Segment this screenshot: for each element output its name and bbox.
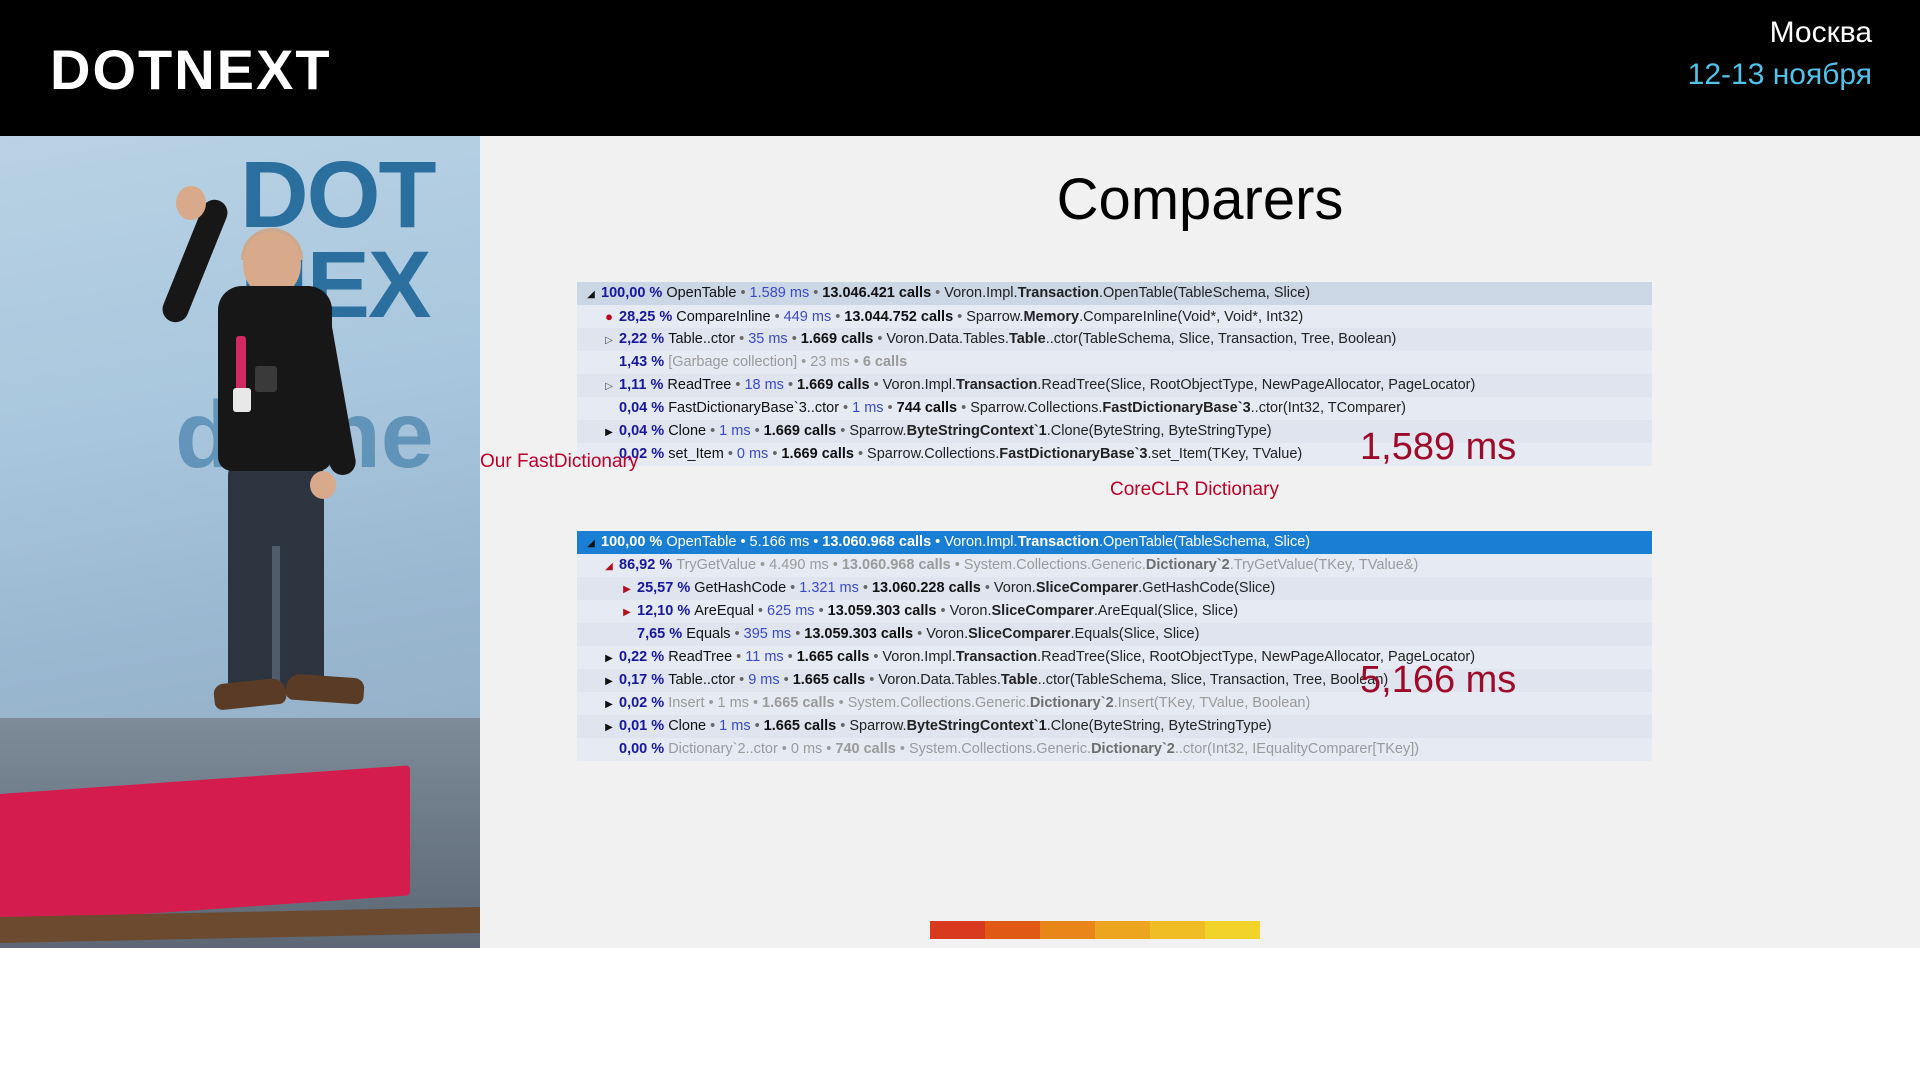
collapse-triangle-icon[interactable]: ◢ xyxy=(585,532,597,555)
row-separator: • xyxy=(706,718,719,734)
row-method-name: Table..ctor xyxy=(668,672,735,688)
row-separator: • xyxy=(731,626,744,642)
row-separator: • xyxy=(788,331,801,347)
row-percent: 7,65 % xyxy=(633,626,686,642)
annotation-our-fastdictionary: Our FastDictionary xyxy=(480,451,638,473)
row-separator: • xyxy=(749,695,762,711)
row-call-count: 744 calls xyxy=(897,400,957,416)
speaker-lanyard xyxy=(236,336,246,390)
row-call-count: 740 calls xyxy=(835,741,895,757)
row-separator: • xyxy=(706,423,719,439)
row-duration: 18 ms xyxy=(744,377,784,393)
row-signature: Voron.Impl.Transaction.OpenTable(TableSc… xyxy=(944,534,1310,550)
row-duration: 23 ms xyxy=(810,354,850,370)
row-separator: • xyxy=(869,649,882,665)
row-separator: • xyxy=(822,741,835,757)
row-call-count: 1.669 calls xyxy=(764,423,837,439)
row-separator: • xyxy=(735,331,748,347)
row-separator: • xyxy=(815,603,828,619)
row-signature: Voron.Data.Tables.Table..ctor(TableSchem… xyxy=(886,331,1396,347)
row-method-name: GetHashCode xyxy=(694,580,786,596)
row-duration: 9 ms xyxy=(748,672,779,688)
row-separator: • xyxy=(981,580,994,596)
row-percent: 0,17 % xyxy=(615,672,668,688)
profiler-row[interactable]: ▶ 12,10 % AreEqual•625 ms•13.059.303 cal… xyxy=(577,600,1652,623)
row-signature: Voron.SliceComparer.GetHashCode(Slice) xyxy=(994,580,1275,596)
strip-segment xyxy=(1150,921,1205,939)
row-separator: • xyxy=(735,672,748,688)
row-separator: • xyxy=(736,285,749,301)
annotation-coreclr-dictionary: CoreCLR Dictionary xyxy=(1110,479,1279,501)
row-separator: • xyxy=(873,331,886,347)
row-separator: • xyxy=(809,534,822,550)
row-method-name: set_Item xyxy=(668,446,724,462)
row-separator: • xyxy=(859,580,872,596)
row-call-count: 13.060.968 calls xyxy=(822,534,931,550)
expand-triangle-icon[interactable]: ▶ xyxy=(621,578,633,601)
row-duration: 1 ms xyxy=(718,695,749,711)
strip-segment xyxy=(985,921,1040,939)
row-signature: System.Collections.Generic.Dictionary`2.… xyxy=(964,557,1419,573)
strip-segment xyxy=(1095,921,1150,939)
row-method-name: Table..ctor xyxy=(668,331,735,347)
row-separator: • xyxy=(809,285,822,301)
expand-triangle-icon[interactable]: ▶ xyxy=(603,693,615,716)
row-percent: 0,02 % xyxy=(615,695,668,711)
expand-triangle-icon[interactable]: ▶ xyxy=(603,716,615,739)
speaker-lowered-hand xyxy=(310,471,336,499)
row-call-count: 1.665 calls xyxy=(762,695,835,711)
dotnext-logo: DOTNEXT xyxy=(50,37,332,102)
strip-segment xyxy=(1205,921,1260,939)
row-separator: • xyxy=(957,400,970,416)
row-separator: • xyxy=(951,557,964,573)
profiler-row[interactable]: 0,04 % FastDictionaryBase`3..ctor•1 ms•7… xyxy=(577,397,1652,420)
row-duration: 0 ms xyxy=(737,446,768,462)
event-dates: 12-13 ноября xyxy=(1472,58,1872,92)
row-call-count: 1.665 calls xyxy=(764,718,837,734)
row-separator: • xyxy=(797,354,810,370)
row-separator: • xyxy=(836,718,849,734)
event-city: Москва xyxy=(1472,16,1872,50)
row-separator: • xyxy=(784,377,797,393)
row-duration: 1.589 ms xyxy=(750,285,810,301)
profiler-row[interactable]: 0,00 % Dictionary`2..ctor•0 ms•740 calls… xyxy=(577,738,1652,761)
row-method-name: Equals xyxy=(686,626,730,642)
expand-triangle-icon[interactable]: ▷ xyxy=(603,375,615,398)
row-percent: 2,22 % xyxy=(615,331,668,347)
row-separator: • xyxy=(768,446,781,462)
row-separator: • xyxy=(751,423,764,439)
strip-segment xyxy=(930,921,985,939)
row-separator: • xyxy=(937,603,950,619)
row-signature: Voron.SliceComparer.AreEqual(Slice, Slic… xyxy=(950,603,1239,619)
row-duration: 11 ms xyxy=(745,649,783,665)
row-separator: • xyxy=(835,695,848,711)
row-call-count: 13.044.752 calls xyxy=(844,309,953,325)
row-method-name: ReadTree xyxy=(667,377,731,393)
row-call-count: 13.060.968 calls xyxy=(842,557,951,573)
event-header-bar: DOTNEXT Москва 12-13 ноября xyxy=(0,0,1920,136)
row-separator: • xyxy=(931,285,944,301)
collapse-triangle-icon[interactable]: ◢ xyxy=(585,283,597,306)
row-separator: • xyxy=(771,309,784,325)
row-duration: 0 ms xyxy=(791,741,822,757)
row-duration: 1 ms xyxy=(719,423,750,439)
row-percent: 1,43 % xyxy=(615,354,668,370)
row-separator: • xyxy=(884,400,897,416)
profiler-row[interactable]: ▷ 1,11 % ReadTree•18 ms•1.669 calls•Voro… xyxy=(577,374,1652,397)
expand-triangle-icon[interactable]: ▶ xyxy=(603,421,615,444)
row-signature: Sparrow.Collections.FastDictionaryBase`3… xyxy=(867,446,1302,462)
row-percent: 0,22 % xyxy=(615,649,668,665)
expand-triangle-icon[interactable]: ▶ xyxy=(603,647,615,670)
row-separator: • xyxy=(836,423,849,439)
expand-triangle-icon[interactable]: ▶ xyxy=(621,601,633,624)
row-signature: System.Collections.Generic.Dictionary`2.… xyxy=(848,695,1311,711)
row-separator: • xyxy=(784,649,797,665)
row-signature: Voron.Impl.Transaction.ReadTree(Slice, R… xyxy=(883,377,1476,393)
profiler-row[interactable]: ◢ 100,00 % OpenTable•5.166 ms•13.060.968… xyxy=(577,531,1652,554)
row-duration: 1 ms xyxy=(852,400,883,416)
speaker-badge xyxy=(233,388,251,412)
expand-triangle-icon[interactable]: ▷ xyxy=(603,329,615,352)
row-duration: 35 ms xyxy=(748,331,788,347)
row-method-name: Clone xyxy=(668,423,706,439)
row-signature: Sparrow.Collections.FastDictionaryBase`3… xyxy=(970,400,1406,416)
row-method-name: TryGetValue xyxy=(676,557,756,573)
row-separator: • xyxy=(931,534,944,550)
row-duration: 5.166 ms xyxy=(750,534,810,550)
row-signature: System.Collections.Generic.Dictionary`2.… xyxy=(909,741,1419,757)
slide-footer-color-strip xyxy=(930,921,1260,939)
profiler-row[interactable]: ◢ 86,92 % TryGetValue•4.490 ms•13.060.96… xyxy=(577,554,1652,577)
profiler-row[interactable]: ▶ 25,57 % GetHashCode•1.321 ms•13.060.22… xyxy=(577,577,1652,600)
row-duration: 1.321 ms xyxy=(799,580,859,596)
row-percent: 0,00 % xyxy=(615,741,668,757)
row-separator: • xyxy=(756,557,769,573)
row-call-count: 13.046.421 calls xyxy=(822,285,931,301)
profiler-tree-coreclr-dictionary[interactable]: ◢ 100,00 % OpenTable•5.166 ms•13.060.968… xyxy=(577,531,1652,761)
profiler-row[interactable]: ▶ 0,01 % Clone•1 ms•1.665 calls•Sparrow.… xyxy=(577,715,1652,738)
row-method-name: Insert xyxy=(668,695,704,711)
row-separator: • xyxy=(831,309,844,325)
speaker-video-pane: DOT NEX dotne xyxy=(0,136,480,948)
row-method-name: OpenTable xyxy=(666,534,736,550)
row-separator: • xyxy=(896,741,909,757)
row-separator: • xyxy=(780,672,793,688)
row-method-name: Clone xyxy=(668,718,706,734)
row-separator: • xyxy=(778,741,791,757)
row-call-count: 1.669 calls xyxy=(801,331,874,347)
row-separator: • xyxy=(839,400,852,416)
row-percent: 28,25 % xyxy=(615,309,676,325)
row-method-name: ReadTree xyxy=(668,649,732,665)
profiler-row[interactable]: ● 28,25 % CompareInline•449 ms•13.044.75… xyxy=(577,305,1652,328)
row-separator: • xyxy=(786,580,799,596)
row-percent: 0,04 % xyxy=(615,423,668,439)
row-signature: Voron.Impl.Transaction.OpenTable(TableSc… xyxy=(944,285,1310,301)
speaker-leg-gap xyxy=(272,546,280,691)
row-duration: 1 ms xyxy=(719,718,750,734)
row-separator: • xyxy=(870,377,883,393)
row-separator: • xyxy=(850,354,863,370)
row-separator: • xyxy=(724,446,737,462)
row-method-name: CompareInline xyxy=(676,309,770,325)
row-separator: • xyxy=(732,649,745,665)
row-method-name: OpenTable xyxy=(666,285,736,301)
row-call-count: 13.059.303 calls xyxy=(828,603,937,619)
row-method-name: [Garbage collection] xyxy=(668,354,797,370)
row-signature: Sparrow.ByteStringContext`1.Clone(ByteSt… xyxy=(849,423,1271,439)
speaker-shirt-emblem xyxy=(255,366,277,392)
profiler-row[interactable]: ▷ 2,22 % Table..ctor•35 ms•1.669 calls•V… xyxy=(577,328,1652,351)
row-duration: 395 ms xyxy=(744,626,792,642)
expand-triangle-icon[interactable]: ▶ xyxy=(603,670,615,693)
row-duration: 4.490 ms xyxy=(769,557,829,573)
profiler-row[interactable]: 1,43 % [Garbage collection]•23 ms•6 call… xyxy=(577,351,1652,374)
strip-segment xyxy=(1040,921,1095,939)
row-call-count: 6 calls xyxy=(863,354,907,370)
speaker-raised-hand xyxy=(176,186,206,220)
row-call-count: 1.665 calls xyxy=(793,672,866,688)
speaker-shoe-left xyxy=(213,677,287,710)
row-signature: Sparrow.ByteStringContext`1.Clone(ByteSt… xyxy=(849,718,1271,734)
row-method-name: AreEqual xyxy=(694,603,754,619)
row-percent: 0,04 % xyxy=(615,400,668,416)
row-percent: 12,10 % xyxy=(633,603,694,619)
row-call-count: 1.665 calls xyxy=(797,649,870,665)
row-separator: • xyxy=(731,377,744,393)
row-separator: • xyxy=(854,446,867,462)
annotation-time-coreclr: 5,166 ms xyxy=(1360,659,1516,702)
row-percent: 100,00 % xyxy=(597,534,666,550)
presentation-slide: Comparers ◢ 100,00 % OpenTable•1.589 ms•… xyxy=(480,136,1920,948)
row-duration: 449 ms xyxy=(784,309,832,325)
row-separator: • xyxy=(736,534,749,550)
row-separator: • xyxy=(791,626,804,642)
row-separator: • xyxy=(751,718,764,734)
row-percent: 0,01 % xyxy=(615,718,668,734)
row-signature: Voron.Data.Tables.Table..ctor(TableSchem… xyxy=(878,672,1388,688)
row-separator: • xyxy=(829,557,842,573)
row-separator: • xyxy=(865,672,878,688)
row-call-count: 1.669 calls xyxy=(781,446,854,462)
row-separator: • xyxy=(953,309,966,325)
row-percent: 100,00 % xyxy=(597,285,666,301)
row-percent: 25,57 % xyxy=(633,580,694,596)
collapse-triangle-icon[interactable]: ◢ xyxy=(603,555,615,578)
row-call-count: 13.060.228 calls xyxy=(872,580,981,596)
profiler-row[interactable]: 7,65 % Equals•395 ms•13.059.303 calls•Vo… xyxy=(577,623,1652,646)
row-signature: Sparrow.Memory.CompareInline(Void*, Void… xyxy=(966,309,1303,325)
speaker-shoe-right xyxy=(285,673,365,704)
profiler-row[interactable]: ◢ 100,00 % OpenTable•1.589 ms•13.046.421… xyxy=(577,282,1652,305)
row-method-name: Dictionary`2..ctor xyxy=(668,741,778,757)
row-separator: • xyxy=(913,626,926,642)
row-call-count: 1.669 calls xyxy=(797,377,870,393)
row-duration: 625 ms xyxy=(767,603,815,619)
row-separator: • xyxy=(704,695,717,711)
row-percent: 86,92 % xyxy=(615,557,676,573)
slide-title: Comparers xyxy=(480,166,1920,233)
row-separator: • xyxy=(754,603,767,619)
row-call-count: 13.059.303 calls xyxy=(804,626,913,642)
annotation-time-fastdictionary: 1,589 ms xyxy=(1360,426,1516,469)
row-signature: Voron.SliceComparer.Equals(Slice, Slice) xyxy=(926,626,1199,642)
row-method-name: FastDictionaryBase`3..ctor xyxy=(668,400,839,416)
hot-path-dot-icon[interactable]: ● xyxy=(603,305,615,328)
row-percent: 1,11 % xyxy=(615,377,667,393)
